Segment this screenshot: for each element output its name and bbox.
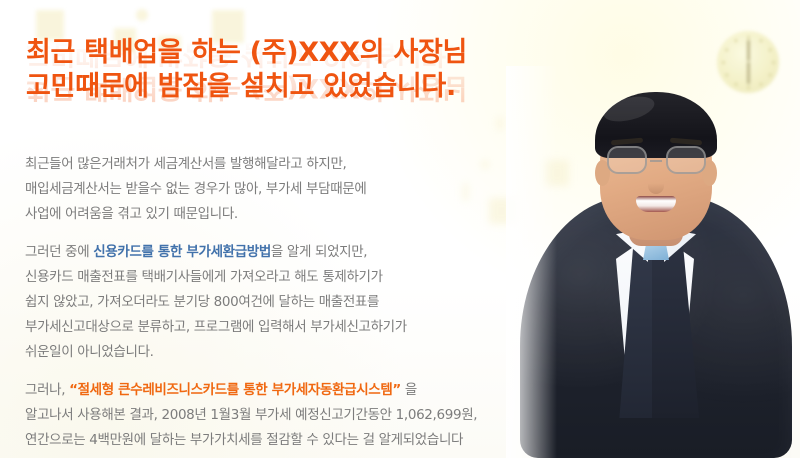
paragraph-2: 그러던 중에 신용카드를 통한 부가세환급방법을 알게 되었지만,신용카드 매출… <box>25 240 505 365</box>
paragraph-1-line-1: 최근들어 많은거래처가 세금계산서를 발행해달라고 하지만, <box>25 152 505 177</box>
body-text-run: 연간으로는 4백만원에 달하는 부가가치세를 절감할 수 있다는 걸 알게되었습… <box>25 432 463 448</box>
clock-tick <box>772 61 775 64</box>
clock-tick <box>747 86 750 89</box>
headline: 최근 택배업을 하는 (주)XXX의 사장님고민때문에 밤잠을 설치고 있었습니… <box>26 36 526 104</box>
clock-tick <box>759 39 762 42</box>
portrait-glasses-bridge <box>650 160 662 162</box>
portrait-edge-fade <box>506 66 800 458</box>
paragraph-2-line-3: 쉽지 않았고, 가져오더라도 분기당 800여건에 달하는 매출전표를 <box>25 290 505 315</box>
paragraph-2-line-1: 그러던 중에 신용카드를 통한 부가세환급방법을 알게 되었지만, <box>25 240 505 265</box>
portrait-lapel-left <box>590 228 660 418</box>
highlight-orange-text: “절세형 큰수레비즈니스카드를 통한 부가세자동환급시스템” <box>69 382 401 398</box>
paragraph-3-line-1: 그러나, “절세형 큰수레비즈니스카드를 통한 부가세자동환급시스템” 을 <box>25 378 505 403</box>
clock-tick <box>768 48 771 51</box>
paragraph-2-line-2: 신용카드 매출전표를 택배기사들에게 가져오라고 해도 통제하기가 <box>25 265 505 290</box>
decorative-square-7 <box>545 160 569 186</box>
portrait-mouth <box>636 196 676 212</box>
paragraph-3-line-2: 알고나서 사용해본 결과, 2008년 1월3월 부가세 예정신고기간동안 1,… <box>25 403 505 428</box>
portrait-collar-left <box>616 228 648 262</box>
wall-clock-icon <box>717 31 779 93</box>
body-copy: 최근들어 많은거래처가 세금계산서를 발행해달라고 하지만,매입세금계산서는 받… <box>25 152 505 453</box>
body-text-run: 사업에 어려움을 겪고 있기 때문입니다. <box>25 206 238 222</box>
body-text-run: 부가세신고대상으로 분류하고, 프로그램에 입력해서 부가세신고하기가 <box>25 319 407 335</box>
clock-hand-minute <box>747 40 750 61</box>
clock-tick <box>734 82 737 85</box>
decorative-square-10 <box>497 117 503 130</box>
portrait-tie-knot <box>643 238 669 260</box>
clock-tick <box>734 39 737 42</box>
headline-line-2: 고민때문에 밤잠을 설치고 있었습니다. <box>26 70 526 104</box>
portrait-glasses-right <box>666 146 706 174</box>
body-text-run: 그러나, <box>25 382 69 398</box>
paragraph-1-line-3: 사업에 어려움을 겪고 있기 때문입니다. <box>25 202 505 227</box>
paragraph-2-line-5: 쉬운일이 아니었습니다. <box>25 340 505 365</box>
body-text-run: 쉬운일이 아니었습니다. <box>25 344 154 360</box>
highlight-blue-text: 신용카드를 통한 부가세환급방법 <box>93 244 271 260</box>
body-text-run: 을 <box>401 382 417 398</box>
portrait-tie <box>637 252 671 402</box>
body-text-run: 그러던 중에 <box>25 244 93 260</box>
portrait-shadow <box>524 208 790 458</box>
body-text-run: 신용카드 매출전표를 택배기사들에게 가져오라고 해도 통제하기가 <box>25 269 383 285</box>
portrait-lapel-right <box>652 223 728 418</box>
portrait-ear-right <box>702 160 717 186</box>
body-text-run: 을 알게 되었지만, <box>271 244 367 260</box>
body-text-run: 쉽지 않았고, 가져오더라도 분기당 800여건에 달하는 매출전표를 <box>25 294 379 310</box>
portrait-hair <box>595 92 717 158</box>
paragraph-2-line-4: 부가세신고대상으로 분류하고, 프로그램에 입력해서 부가세신고하기가 <box>25 315 505 340</box>
clock-tick <box>725 73 728 76</box>
clock-tick <box>747 36 750 39</box>
portrait-suit <box>520 196 792 458</box>
body-text-run: 매입세금계산서는 받을수 없는 경우가 많아, 부가세 부담때문에 <box>25 181 366 197</box>
paragraph-3: 그러나, “절세형 큰수레비즈니스카드를 통한 부가세자동환급시스템” 을알고나… <box>25 378 505 453</box>
portrait-collar-right <box>664 228 696 262</box>
paragraph-3-line-3: 연간으로는 4백만원에 달하는 부가가치세를 절감할 수 있다는 걸 알게되었습… <box>25 428 505 453</box>
body-text-run: 최근들어 많은거래처가 세금계산서를 발행해달라고 하지만, <box>25 156 346 172</box>
paragraph-1: 최근들어 많은거래처가 세금계산서를 발행해달라고 하지만,매입세금계산서는 받… <box>25 152 505 227</box>
clock-tick <box>722 61 725 64</box>
headline-line-1: 최근 택배업을 하는 (주)XXX의 사장님 <box>26 36 526 70</box>
clock-tick <box>725 48 728 51</box>
paragraph-1-line-2: 매입세금계산서는 받을수 없는 경우가 많아, 부가세 부담때문에 <box>25 177 505 202</box>
portrait-neck <box>629 206 683 246</box>
portrait-glasses-left <box>607 146 647 174</box>
promotional-banner: 최근 택배업을 하는 (주)XXX의 사장님고민때문에 밤잠을 설치고 있었습니… <box>0 0 800 458</box>
clock-tick <box>768 73 771 76</box>
decorative-square-3 <box>136 9 148 21</box>
portrait-eyebrow-left <box>611 138 643 146</box>
portrait-head <box>600 100 712 240</box>
portrait-shirt <box>616 232 694 400</box>
clock-tick <box>759 82 762 85</box>
businessman-portrait <box>506 66 800 458</box>
body-text-run: 알고나서 사용해본 결과, 2008년 1월3월 부가세 예정신고기간동안 1,… <box>25 407 477 423</box>
portrait-eyebrow-right <box>670 138 702 146</box>
portrait-nose <box>648 176 664 194</box>
clock-hand-hour <box>747 62 750 84</box>
portrait-ear-left <box>595 160 610 186</box>
